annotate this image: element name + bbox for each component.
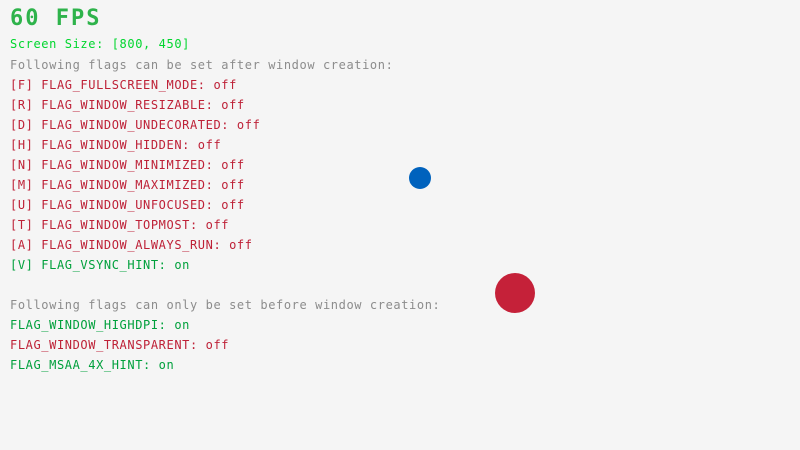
flag-row-flag-fullscreen-mode[interactable]: [F] FLAG_FULLSCREEN_MODE: off (10, 79, 237, 91)
flag-row-flag-window-minimized[interactable]: [N] FLAG_WINDOW_MINIMIZED: off (10, 159, 245, 171)
screen-size-label: Screen Size: [800, 450] (10, 38, 190, 50)
raylib-window-canvas[interactable]: 60 FPS Screen Size: [800, 450] Following… (0, 0, 800, 450)
flag-row-flag-window-resizable[interactable]: [R] FLAG_WINDOW_RESIZABLE: off (10, 99, 245, 111)
flag-row-flag-window-topmost[interactable]: [T] FLAG_WINDOW_TOPMOST: off (10, 219, 229, 231)
ball-blue (409, 167, 431, 189)
flag-row-flag-vsync-hint[interactable]: [V] FLAG_VSYNC_HINT: on (10, 259, 190, 271)
flag-row-flag-window-always-run[interactable]: [A] FLAG_WINDOW_ALWAYS_RUN: off (10, 239, 253, 251)
flag-row-flag-window-highdpi[interactable]: FLAG_WINDOW_HIGHDPI: on (10, 319, 190, 331)
flag-row-flag-window-undecorated[interactable]: [D] FLAG_WINDOW_UNDECORATED: off (10, 119, 260, 131)
section-header-before-creation: Following flags can only be set before w… (10, 299, 440, 311)
flag-row-flag-window-transparent[interactable]: FLAG_WINDOW_TRANSPARENT: off (10, 339, 229, 351)
flag-row-flag-window-maximized[interactable]: [M] FLAG_WINDOW_MAXIMIZED: off (10, 179, 245, 191)
section-header-after-creation: Following flags can be set after window … (10, 59, 393, 71)
flag-row-flag-window-unfocused[interactable]: [U] FLAG_WINDOW_UNFOCUSED: off (10, 199, 245, 211)
flag-row-flag-msaa-4x-hint[interactable]: FLAG_MSAA_4X_HINT: on (10, 359, 174, 371)
flag-row-flag-window-hidden[interactable]: [H] FLAG_WINDOW_HIDDEN: off (10, 139, 221, 151)
fps-counter: 60 FPS (10, 8, 101, 30)
ball-red (495, 273, 535, 313)
